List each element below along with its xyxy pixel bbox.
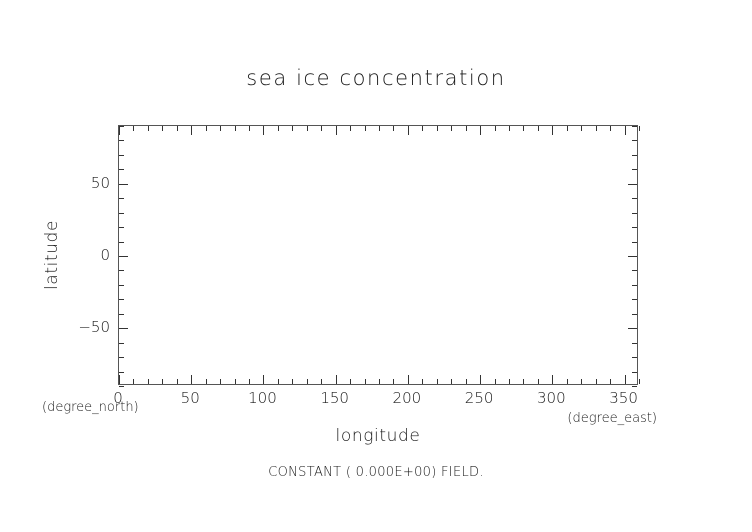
y-tick-label: 50 bbox=[91, 174, 110, 192]
axis-tick bbox=[119, 126, 120, 135]
axis-tick bbox=[206, 126, 207, 131]
axis-tick bbox=[162, 126, 163, 131]
axis-tick bbox=[408, 375, 409, 384]
axis-tick bbox=[119, 256, 128, 257]
axis-tick bbox=[119, 155, 124, 156]
axis-tick bbox=[336, 375, 337, 384]
axis-tick bbox=[632, 285, 637, 286]
axis-tick bbox=[235, 126, 236, 131]
axis-tick bbox=[119, 386, 124, 387]
axis-tick bbox=[632, 140, 637, 141]
axis-tick bbox=[292, 126, 293, 131]
axis-tick bbox=[495, 379, 496, 384]
axis-tick bbox=[596, 379, 597, 384]
axis-tick bbox=[336, 126, 337, 135]
axis-tick bbox=[628, 328, 637, 329]
axis-tick bbox=[119, 227, 124, 228]
axis-tick bbox=[639, 379, 640, 384]
axis-tick bbox=[220, 379, 221, 384]
axis-tick bbox=[509, 379, 510, 384]
axis-tick bbox=[119, 372, 124, 373]
axis-tick bbox=[119, 213, 124, 214]
axis-tick bbox=[632, 299, 637, 300]
axis-tick bbox=[552, 375, 553, 384]
axis-tick bbox=[119, 314, 124, 315]
axis-tick bbox=[379, 126, 380, 131]
axis-tick bbox=[628, 256, 637, 257]
axis-tick bbox=[235, 379, 236, 384]
plot-frame bbox=[118, 125, 638, 385]
y-tick-label: −50 bbox=[78, 318, 110, 336]
axis-tick bbox=[119, 375, 120, 384]
axis-tick bbox=[148, 126, 149, 131]
axis-tick bbox=[321, 126, 322, 131]
x-tick-label: 350 bbox=[609, 389, 638, 407]
y-axis-units-label: (degree_north) bbox=[42, 400, 139, 415]
axis-tick bbox=[119, 242, 124, 243]
axis-tick bbox=[632, 270, 637, 271]
x-tick-label: 200 bbox=[393, 389, 422, 407]
axis-tick bbox=[191, 375, 192, 384]
axis-tick bbox=[119, 140, 124, 141]
constant-field-note: CONSTANT ( 0.000E+00) FIELD. bbox=[0, 465, 752, 480]
axis-tick bbox=[307, 379, 308, 384]
axis-tick bbox=[567, 379, 568, 384]
axis-tick bbox=[263, 375, 264, 384]
axis-tick bbox=[610, 379, 611, 384]
axis-tick bbox=[632, 242, 637, 243]
axis-tick bbox=[393, 126, 394, 131]
axis-tick bbox=[133, 126, 134, 131]
axis-tick bbox=[632, 314, 637, 315]
axis-tick bbox=[177, 126, 178, 131]
axis-tick bbox=[206, 379, 207, 384]
x-tick-label: 50 bbox=[181, 389, 200, 407]
x-tick-label: 150 bbox=[320, 389, 349, 407]
axis-tick bbox=[581, 379, 582, 384]
axis-tick bbox=[191, 126, 192, 135]
axis-tick bbox=[220, 126, 221, 131]
axis-tick bbox=[632, 372, 637, 373]
axis-tick bbox=[495, 126, 496, 131]
axis-tick bbox=[119, 299, 124, 300]
axis-tick bbox=[119, 285, 124, 286]
axis-tick bbox=[466, 126, 467, 131]
axis-tick bbox=[119, 198, 124, 199]
y-tick-label: 0 bbox=[100, 246, 110, 264]
axis-tick bbox=[538, 126, 539, 131]
axis-tick bbox=[408, 126, 409, 135]
axis-tick bbox=[625, 375, 626, 384]
axis-tick bbox=[625, 126, 626, 135]
axis-tick bbox=[119, 184, 128, 185]
axis-tick bbox=[119, 169, 124, 170]
axis-tick bbox=[119, 357, 124, 358]
chart-page: sea ice concentration 050100150200250300… bbox=[0, 0, 752, 532]
axis-tick bbox=[538, 379, 539, 384]
axis-tick bbox=[523, 126, 524, 131]
axis-tick bbox=[523, 379, 524, 384]
x-tick-label: 250 bbox=[465, 389, 494, 407]
axis-tick bbox=[632, 227, 637, 228]
axis-tick bbox=[466, 379, 467, 384]
axis-tick bbox=[632, 126, 637, 127]
axis-tick bbox=[437, 126, 438, 131]
axis-tick bbox=[509, 126, 510, 131]
x-tick-label: 100 bbox=[248, 389, 277, 407]
axis-tick bbox=[177, 379, 178, 384]
axis-tick bbox=[451, 126, 452, 131]
axis-tick bbox=[148, 379, 149, 384]
axis-tick bbox=[628, 184, 637, 185]
axis-tick bbox=[119, 328, 128, 329]
axis-tick bbox=[639, 126, 640, 131]
page-title: sea ice concentration bbox=[0, 66, 752, 90]
plot-area bbox=[119, 126, 637, 384]
axis-tick bbox=[393, 379, 394, 384]
axis-tick bbox=[350, 126, 351, 131]
axis-tick bbox=[119, 126, 124, 127]
x-tick-label: 300 bbox=[537, 389, 566, 407]
axis-tick bbox=[422, 126, 423, 131]
axis-tick bbox=[379, 379, 380, 384]
axis-tick bbox=[119, 343, 124, 344]
axis-tick bbox=[632, 155, 637, 156]
axis-tick bbox=[610, 126, 611, 131]
axis-tick bbox=[321, 379, 322, 384]
axis-tick bbox=[365, 379, 366, 384]
axis-tick bbox=[422, 379, 423, 384]
y-axis-title: latitude bbox=[42, 220, 62, 290]
axis-tick bbox=[567, 126, 568, 131]
axis-tick bbox=[292, 379, 293, 384]
axis-tick bbox=[480, 375, 481, 384]
axis-tick bbox=[162, 379, 163, 384]
axis-tick bbox=[278, 126, 279, 131]
x-axis-title: longitude bbox=[118, 426, 638, 446]
axis-tick bbox=[632, 213, 637, 214]
axis-tick bbox=[632, 357, 637, 358]
axis-tick bbox=[119, 270, 124, 271]
axis-tick bbox=[278, 379, 279, 384]
axis-tick bbox=[451, 379, 452, 384]
axis-tick bbox=[249, 379, 250, 384]
axis-tick bbox=[581, 126, 582, 131]
axis-tick bbox=[350, 379, 351, 384]
axis-tick bbox=[632, 198, 637, 199]
axis-tick bbox=[437, 379, 438, 384]
axis-tick bbox=[480, 126, 481, 135]
axis-tick bbox=[596, 126, 597, 131]
axis-tick bbox=[632, 386, 637, 387]
axis-tick bbox=[249, 126, 250, 131]
axis-tick bbox=[365, 126, 366, 131]
axis-tick bbox=[133, 379, 134, 384]
axis-tick bbox=[632, 343, 637, 344]
axis-tick bbox=[263, 126, 264, 135]
x-axis-units-label: (degree_east) bbox=[567, 411, 657, 426]
axis-tick bbox=[307, 126, 308, 131]
axis-tick bbox=[632, 169, 637, 170]
axis-tick bbox=[552, 126, 553, 135]
